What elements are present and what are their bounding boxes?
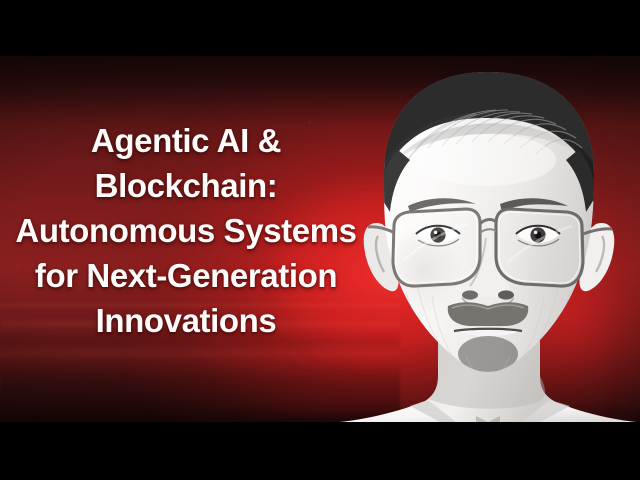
title-line-2: Blockchain: bbox=[8, 163, 364, 208]
title-line-4: for Next-Generation bbox=[8, 253, 364, 298]
title-line-3: Autonomous Systems bbox=[8, 208, 364, 253]
thumbnail-canvas: Agentic AI & Blockchain: Autonomous Syst… bbox=[0, 0, 640, 480]
nostril-right bbox=[498, 290, 514, 299]
forehead-highlight bbox=[416, 134, 556, 186]
title-line-5: Innovations bbox=[8, 298, 364, 343]
letterbox-top-bar bbox=[0, 0, 640, 56]
portrait-photo bbox=[336, 56, 640, 422]
video-frame: Agentic AI & Blockchain: Autonomous Syst… bbox=[0, 56, 640, 422]
nostril-left bbox=[462, 290, 478, 299]
person-icon bbox=[336, 56, 640, 422]
title-line-1: Agentic AI & bbox=[8, 118, 364, 163]
letterbox-bottom-bar bbox=[0, 422, 640, 480]
eye-right bbox=[516, 226, 560, 246]
title-block: Agentic AI & Blockchain: Autonomous Syst… bbox=[8, 118, 364, 343]
